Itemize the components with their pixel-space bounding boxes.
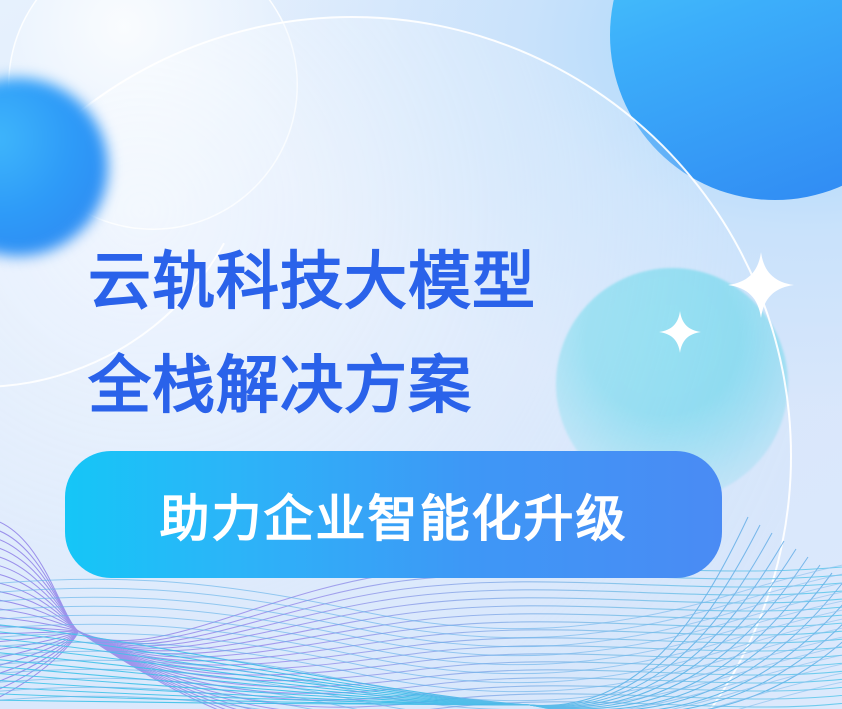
cta-pill-button[interactable]: 助力企业智能化升级 xyxy=(65,451,722,578)
circle-glass-top-left-decoration xyxy=(8,0,298,230)
circle-blue-top-right-decoration xyxy=(610,0,842,200)
cta-label: 助力企业智能化升级 xyxy=(160,479,628,551)
promo-banner: 云轨科技大模型 全栈解决方案 助力企业智能化升级 xyxy=(0,0,842,709)
headline-line-2: 全栈解决方案 xyxy=(88,334,536,438)
sparkle-icon xyxy=(659,311,701,353)
headline-line-1: 云轨科技大模型 xyxy=(88,230,536,334)
sparkle-icon xyxy=(728,252,794,318)
headline: 云轨科技大模型 全栈解决方案 xyxy=(88,230,536,438)
